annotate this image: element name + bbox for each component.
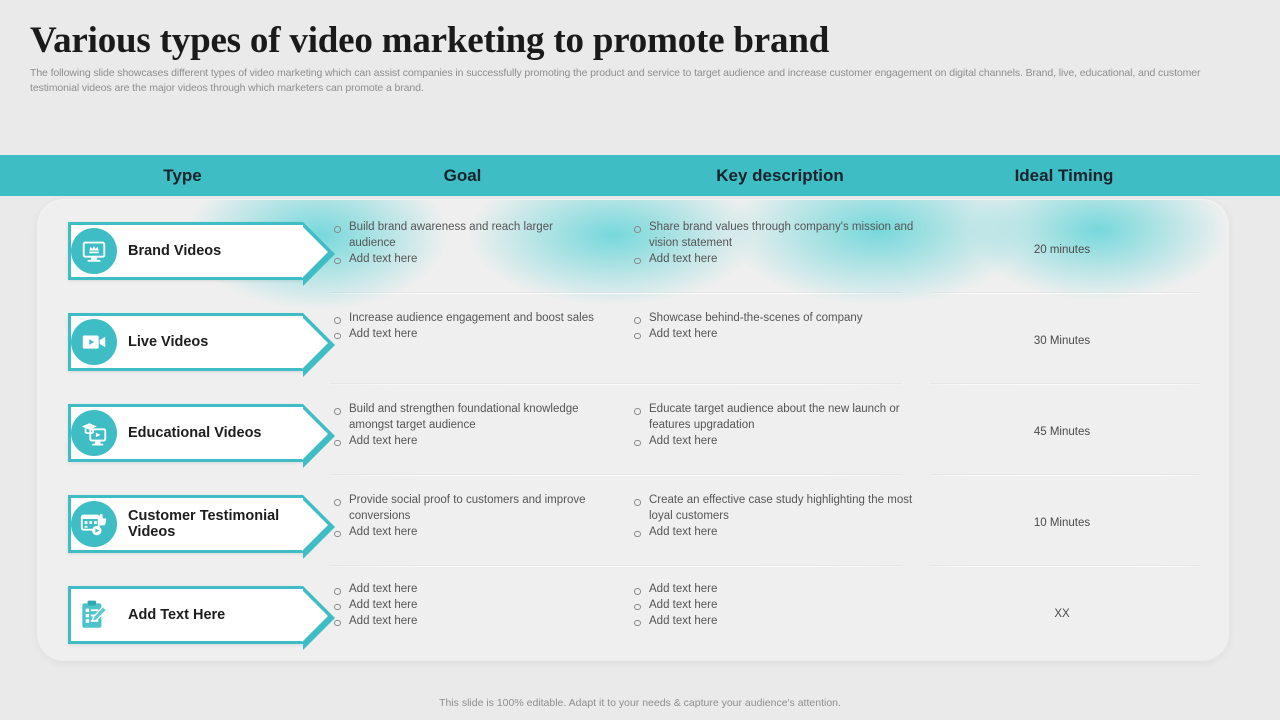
bullet-item: Add text here xyxy=(330,327,602,343)
table-row: Brand VideosBuild brand awareness and re… xyxy=(38,206,1228,297)
row-separator xyxy=(930,566,1200,567)
row-separator xyxy=(930,293,1200,294)
bullet-item: Build and strengthen foundational knowle… xyxy=(330,402,602,434)
row-separator xyxy=(930,384,1200,385)
goal-cell-list: Increase audience engagement and boost s… xyxy=(330,311,602,343)
badge-icon-wrap xyxy=(70,316,118,368)
key-description-cell: Educate target audience about the new la… xyxy=(630,402,920,449)
goal-cell-list: Add text hereAdd text hereAdd text here xyxy=(330,582,602,629)
goal-cell-list: Build brand awareness and reach larger a… xyxy=(330,220,602,267)
goal-cell: Increase audience engagement and boost s… xyxy=(330,311,602,343)
bullet-item: Share brand values through company's mis… xyxy=(630,220,920,252)
column-header-type: Type xyxy=(60,155,305,196)
type-badge[interactable]: Brand Videos xyxy=(68,222,303,280)
table-row: Customer Testimonial VideosProvide socia… xyxy=(38,479,1228,570)
key-description-cell-list: Create an effective case study highlight… xyxy=(630,493,920,540)
column-header-key-description: Key description xyxy=(630,155,930,196)
table-row: Live VideosIncrease audience engagement … xyxy=(38,297,1228,388)
ideal-timing-cell: 45 Minutes xyxy=(958,426,1166,438)
type-badge[interactable]: Customer Testimonial Videos xyxy=(68,495,303,553)
key-description-cell-list: Educate target audience about the new la… xyxy=(630,402,920,449)
bullet-item: Provide social proof to customers and im… xyxy=(330,493,602,525)
goal-cell: Add text hereAdd text hereAdd text here xyxy=(330,582,602,629)
badge-icon-wrap xyxy=(70,225,118,277)
bullet-item: Showcase behind-the-scenes of company xyxy=(630,311,920,327)
type-badge[interactable]: Add Text Here xyxy=(68,586,303,644)
goal-cell: Provide social proof to customers and im… xyxy=(330,493,602,540)
clipboard-checklist-icon xyxy=(71,592,117,638)
bullet-item: Add text here xyxy=(330,434,602,450)
row-separator xyxy=(330,475,902,476)
key-description-cell: Share brand values through company's mis… xyxy=(630,220,920,267)
bullet-item: Add text here xyxy=(630,327,920,343)
table-row: Educational VideosBuild and strengthen f… xyxy=(38,388,1228,479)
goal-cell: Build and strengthen foundational knowle… xyxy=(330,402,602,449)
goal-cell: Build brand awareness and reach larger a… xyxy=(330,220,602,267)
table-card: Brand VideosBuild brand awareness and re… xyxy=(38,200,1228,660)
type-badge-label: Brand Videos xyxy=(128,243,221,259)
goal-cell-list: Provide social proof to customers and im… xyxy=(330,493,602,540)
bullet-item: Add text here xyxy=(330,614,602,630)
bullet-item: Increase audience engagement and boost s… xyxy=(330,311,602,327)
key-description-cell: Create an effective case study highlight… xyxy=(630,493,920,540)
bullet-item: Add text here xyxy=(330,525,602,541)
bullet-item: Add text here xyxy=(330,252,602,268)
row-separator xyxy=(930,475,1200,476)
bullet-item: Add text here xyxy=(630,598,920,614)
bullet-item: Add text here xyxy=(630,525,920,541)
ideal-timing-cell: XX xyxy=(958,608,1166,620)
graduation-screen-icon xyxy=(71,410,117,456)
bullet-item: Add text here xyxy=(630,434,920,450)
type-badge-label: Add Text Here xyxy=(128,607,225,623)
table-header-bar: Type Goal Key description Ideal Timing xyxy=(0,155,1280,196)
slide-root: Various types of video marketing to prom… xyxy=(0,0,1280,720)
ideal-timing-cell: 30 Minutes xyxy=(958,335,1166,347)
bullet-item: Add text here xyxy=(330,598,602,614)
page-subtitle: The following slide showcases different … xyxy=(30,66,1232,96)
type-badge[interactable]: Live Videos xyxy=(68,313,303,371)
type-badge-label: Live Videos xyxy=(128,334,208,350)
bullet-item: Educate target audience about the new la… xyxy=(630,402,920,434)
row-separator xyxy=(330,566,902,567)
type-badge-label: Educational Videos xyxy=(128,425,262,441)
monitor-crown-icon xyxy=(71,228,117,274)
key-description-cell: Showcase behind-the-scenes of companyAdd… xyxy=(630,311,920,343)
ideal-timing-cell: 20 minutes xyxy=(958,244,1166,256)
testimonial-thumbsup-icon xyxy=(71,501,117,547)
row-separator xyxy=(330,293,902,294)
video-camera-icon xyxy=(71,319,117,365)
column-header-goal: Goal xyxy=(330,155,595,196)
bullet-item: Add text here xyxy=(330,582,602,598)
badge-icon-wrap xyxy=(70,498,118,550)
row-separator xyxy=(330,384,902,385)
table-row: Add Text HereAdd text hereAdd text hereA… xyxy=(38,570,1228,660)
page-title: Various types of video marketing to prom… xyxy=(30,18,1240,63)
column-header-ideal-timing: Ideal Timing xyxy=(960,155,1168,196)
key-description-cell-list: Share brand values through company's mis… xyxy=(630,220,920,267)
type-badge-label: Customer Testimonial Videos xyxy=(128,508,288,540)
type-badge[interactable]: Educational Videos xyxy=(68,404,303,462)
badge-icon-wrap xyxy=(70,407,118,459)
bullet-item: Build brand awareness and reach larger a… xyxy=(330,220,602,252)
key-description-cell: Add text hereAdd text hereAdd text here xyxy=(630,582,920,629)
bullet-item: Create an effective case study highlight… xyxy=(630,493,920,525)
bullet-item: Add text here xyxy=(630,582,920,598)
key-description-cell-list: Add text hereAdd text hereAdd text here xyxy=(630,582,920,629)
bullet-item: Add text here xyxy=(630,252,920,268)
bullet-item: Add text here xyxy=(630,614,920,630)
slide-footer-note: This slide is 100% editable. Adapt it to… xyxy=(0,697,1280,709)
goal-cell-list: Build and strengthen foundational knowle… xyxy=(330,402,602,449)
key-description-cell-list: Showcase behind-the-scenes of companyAdd… xyxy=(630,311,920,343)
badge-icon-wrap xyxy=(70,589,118,641)
ideal-timing-cell: 10 Minutes xyxy=(958,517,1166,529)
